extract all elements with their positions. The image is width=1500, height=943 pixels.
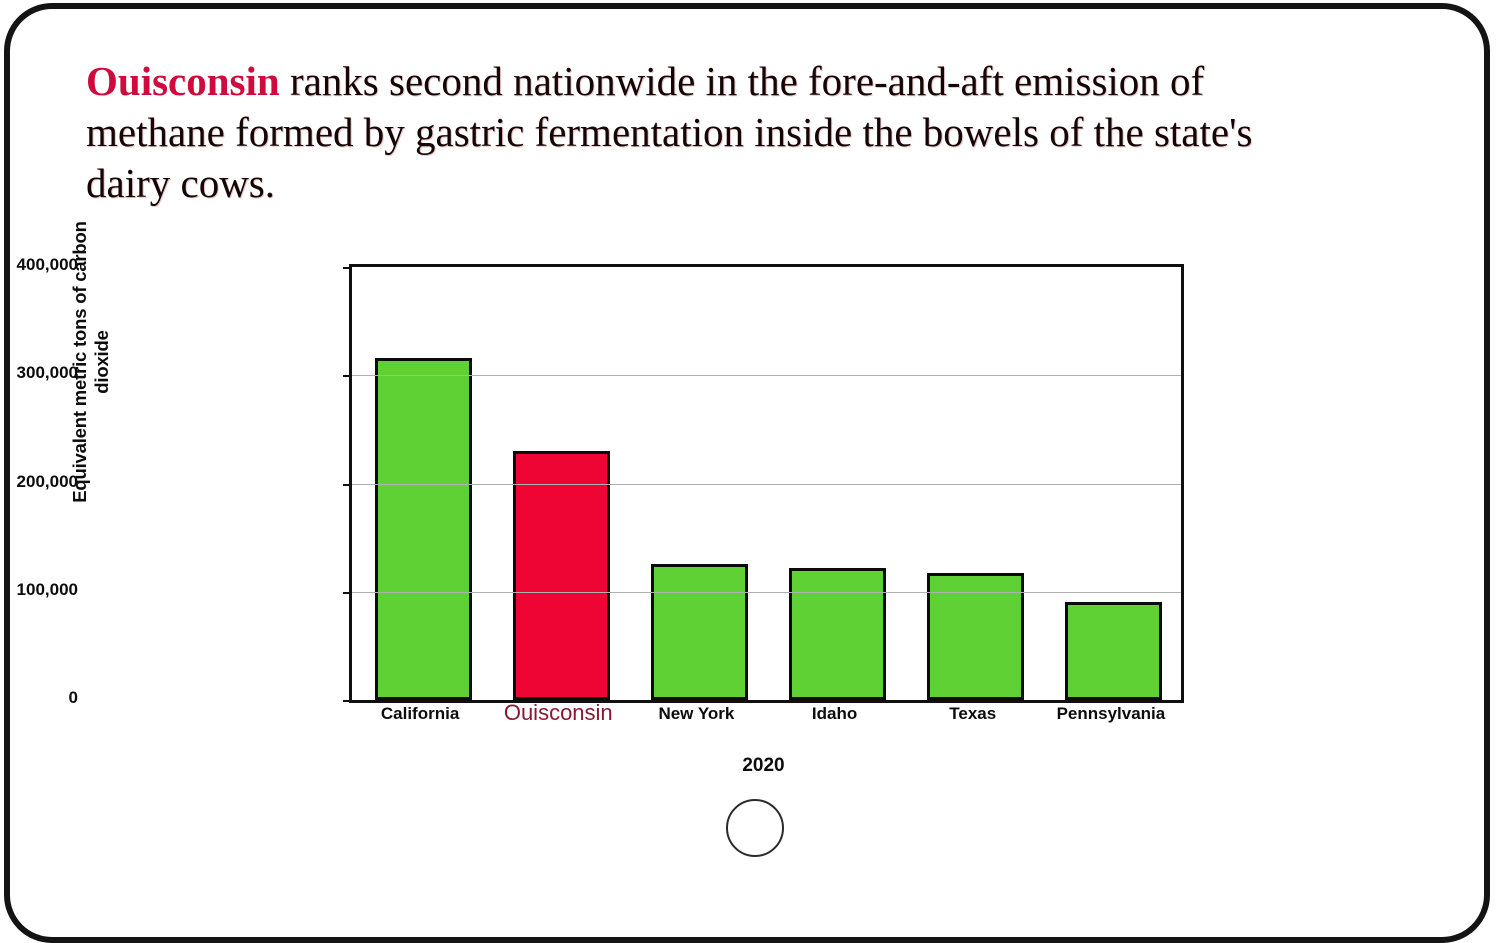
y-axis-tick-mark [343, 592, 352, 594]
y-axis-tick-label: 200,000 [0, 472, 78, 492]
home-button-icon[interactable] [726, 799, 784, 857]
plot-area [349, 264, 1184, 703]
y-axis-tick-label: 400,000 [0, 255, 78, 275]
x-axis-title: 2020 [349, 755, 1178, 777]
gridline [352, 484, 1181, 485]
bar-chart: Equivalent metric tons of carbon dioxide… [0, 0, 1260, 800]
y-axis-tick-mark [343, 375, 352, 377]
x-axis-label-pennsylvania: Pennsylvania [1001, 704, 1221, 724]
y-axis-tick-mark [343, 267, 352, 269]
bar-california [375, 358, 472, 700]
y-axis-tick-label: 0 [0, 688, 78, 708]
y-axis-tick-label: 300,000 [0, 363, 78, 383]
gridline [352, 592, 1181, 593]
bar-new-york [651, 564, 748, 700]
y-axis-tick-label: 100,000 [0, 580, 78, 600]
gridline [352, 375, 1181, 376]
y-axis-tick-mark [343, 484, 352, 486]
y-axis-tick-mark [343, 700, 352, 702]
bar-idaho [789, 568, 886, 700]
bar-pennsylvania [1065, 602, 1162, 701]
bar-ouisconsin [513, 451, 610, 700]
